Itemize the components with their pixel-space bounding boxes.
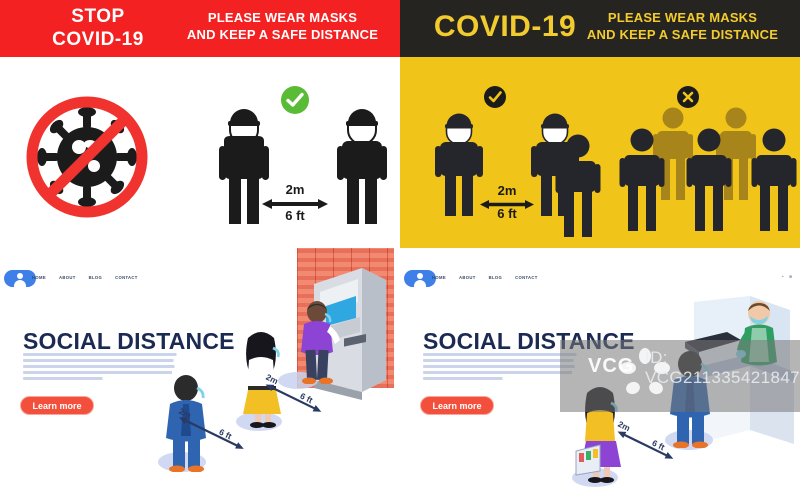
no-coronavirus-icon (22, 92, 152, 222)
nav-item-blog[interactable]: BLOG (89, 275, 103, 280)
avatar-body-icon (14, 280, 26, 287)
corner-marks: ▪ ■ (782, 274, 794, 280)
poster-right-subtitle: PLEASE WEAR MASKS AND KEEP A SAFE DISTAN… (575, 9, 790, 43)
crowd-person-5 (748, 128, 800, 237)
distance-imperial-label: 6 ft (265, 208, 325, 223)
poster-right-title: COVID-19 (410, 10, 600, 44)
watermark-brand: VCG (588, 355, 634, 378)
body-copy-line (23, 365, 181, 368)
body-copy-right (423, 353, 583, 383)
poster-left-title-line2: COVID-19 (18, 28, 178, 51)
nav-item-contact[interactable]: CONTACT (115, 275, 138, 280)
poster-left-subtitle-line1: PLEASE WEAR MASKS (175, 9, 390, 26)
poster-right: COVID-19 PLEASE WEAR MASKS AND KEEP A SA… (400, 0, 800, 248)
poster-left-title-line1: STOP (18, 5, 178, 28)
shopping-basket-icon (576, 445, 600, 475)
nav-item-contact[interactable]: CONTACT (515, 275, 538, 280)
crowd-person-3 (616, 128, 668, 237)
poster-right-subtitle-line1: PLEASE WEAR MASKS (575, 9, 790, 26)
body-copy-line (423, 365, 581, 368)
avatar-head-icon (417, 273, 423, 279)
watermark-id: ID: VCG211335421847 (645, 348, 800, 388)
green-check-circle-icon (281, 86, 309, 114)
navbar-left: HOME ABOUT BLOG CONTACT (32, 275, 138, 280)
black-check-circle-icon (484, 86, 506, 108)
navbar-right: HOME ABOUT BLOG CONTACT (432, 275, 538, 280)
poster-right-subtitle-line2: AND KEEP A SAFE DISTANCE (575, 26, 790, 43)
learn-more-button-right[interactable]: Learn more (420, 396, 494, 415)
body-copy-line (23, 377, 106, 380)
page-title-left: SOCIAL DISTANCE (23, 328, 235, 355)
nav-item-about[interactable]: ABOUT (59, 275, 76, 280)
nav-item-home[interactable]: HOME (432, 275, 446, 280)
poster-left-title: STOP COVID-19 (18, 5, 178, 51)
nav-item-about[interactable]: ABOUT (459, 275, 476, 280)
nav-item-blog[interactable]: BLOG (489, 275, 503, 280)
body-copy-line (423, 371, 578, 374)
poster-collage: STOP COVID-19 PLEASE WEAR MASKS AND KEEP… (0, 0, 800, 500)
nav-item-home[interactable]: HOME (32, 275, 46, 280)
body-copy-line (23, 353, 183, 356)
avatar-body-icon (414, 280, 426, 287)
masked-person-right (330, 108, 394, 231)
poster-right-header: COVID-19 PLEASE WEAR MASKS AND KEEP A SA… (400, 0, 800, 57)
distance-metric-label: 2m (265, 182, 325, 197)
crowd-person-4 (683, 128, 735, 237)
body-copy-line (23, 359, 180, 362)
body-copy-line (23, 371, 178, 374)
black-cross-circle-icon (677, 86, 699, 108)
distance-metric-label: 2m (482, 183, 532, 198)
crowd-person-6 (552, 134, 604, 243)
body-copy-line (423, 353, 583, 356)
distance-imperial-label: 6 ft (482, 206, 532, 221)
body-copy-line (423, 377, 506, 380)
body-copy-line (423, 359, 580, 362)
avatar-head-icon (17, 273, 23, 279)
poster-left-header: STOP COVID-19 PLEASE WEAR MASKS AND KEEP… (0, 0, 400, 57)
poster-left: STOP COVID-19 PLEASE WEAR MASKS AND KEEP… (0, 0, 400, 248)
learn-more-button-left[interactable]: Learn more (20, 396, 94, 415)
man-in-purple-vest-at-atm (290, 300, 342, 389)
poster-left-subtitle-line2: AND KEEP A SAFE DISTANCE (175, 26, 390, 43)
woman-in-yellow-skirt (232, 330, 290, 433)
poster-left-subtitle: PLEASE WEAR MASKS AND KEEP A SAFE DISTAN… (175, 9, 390, 43)
